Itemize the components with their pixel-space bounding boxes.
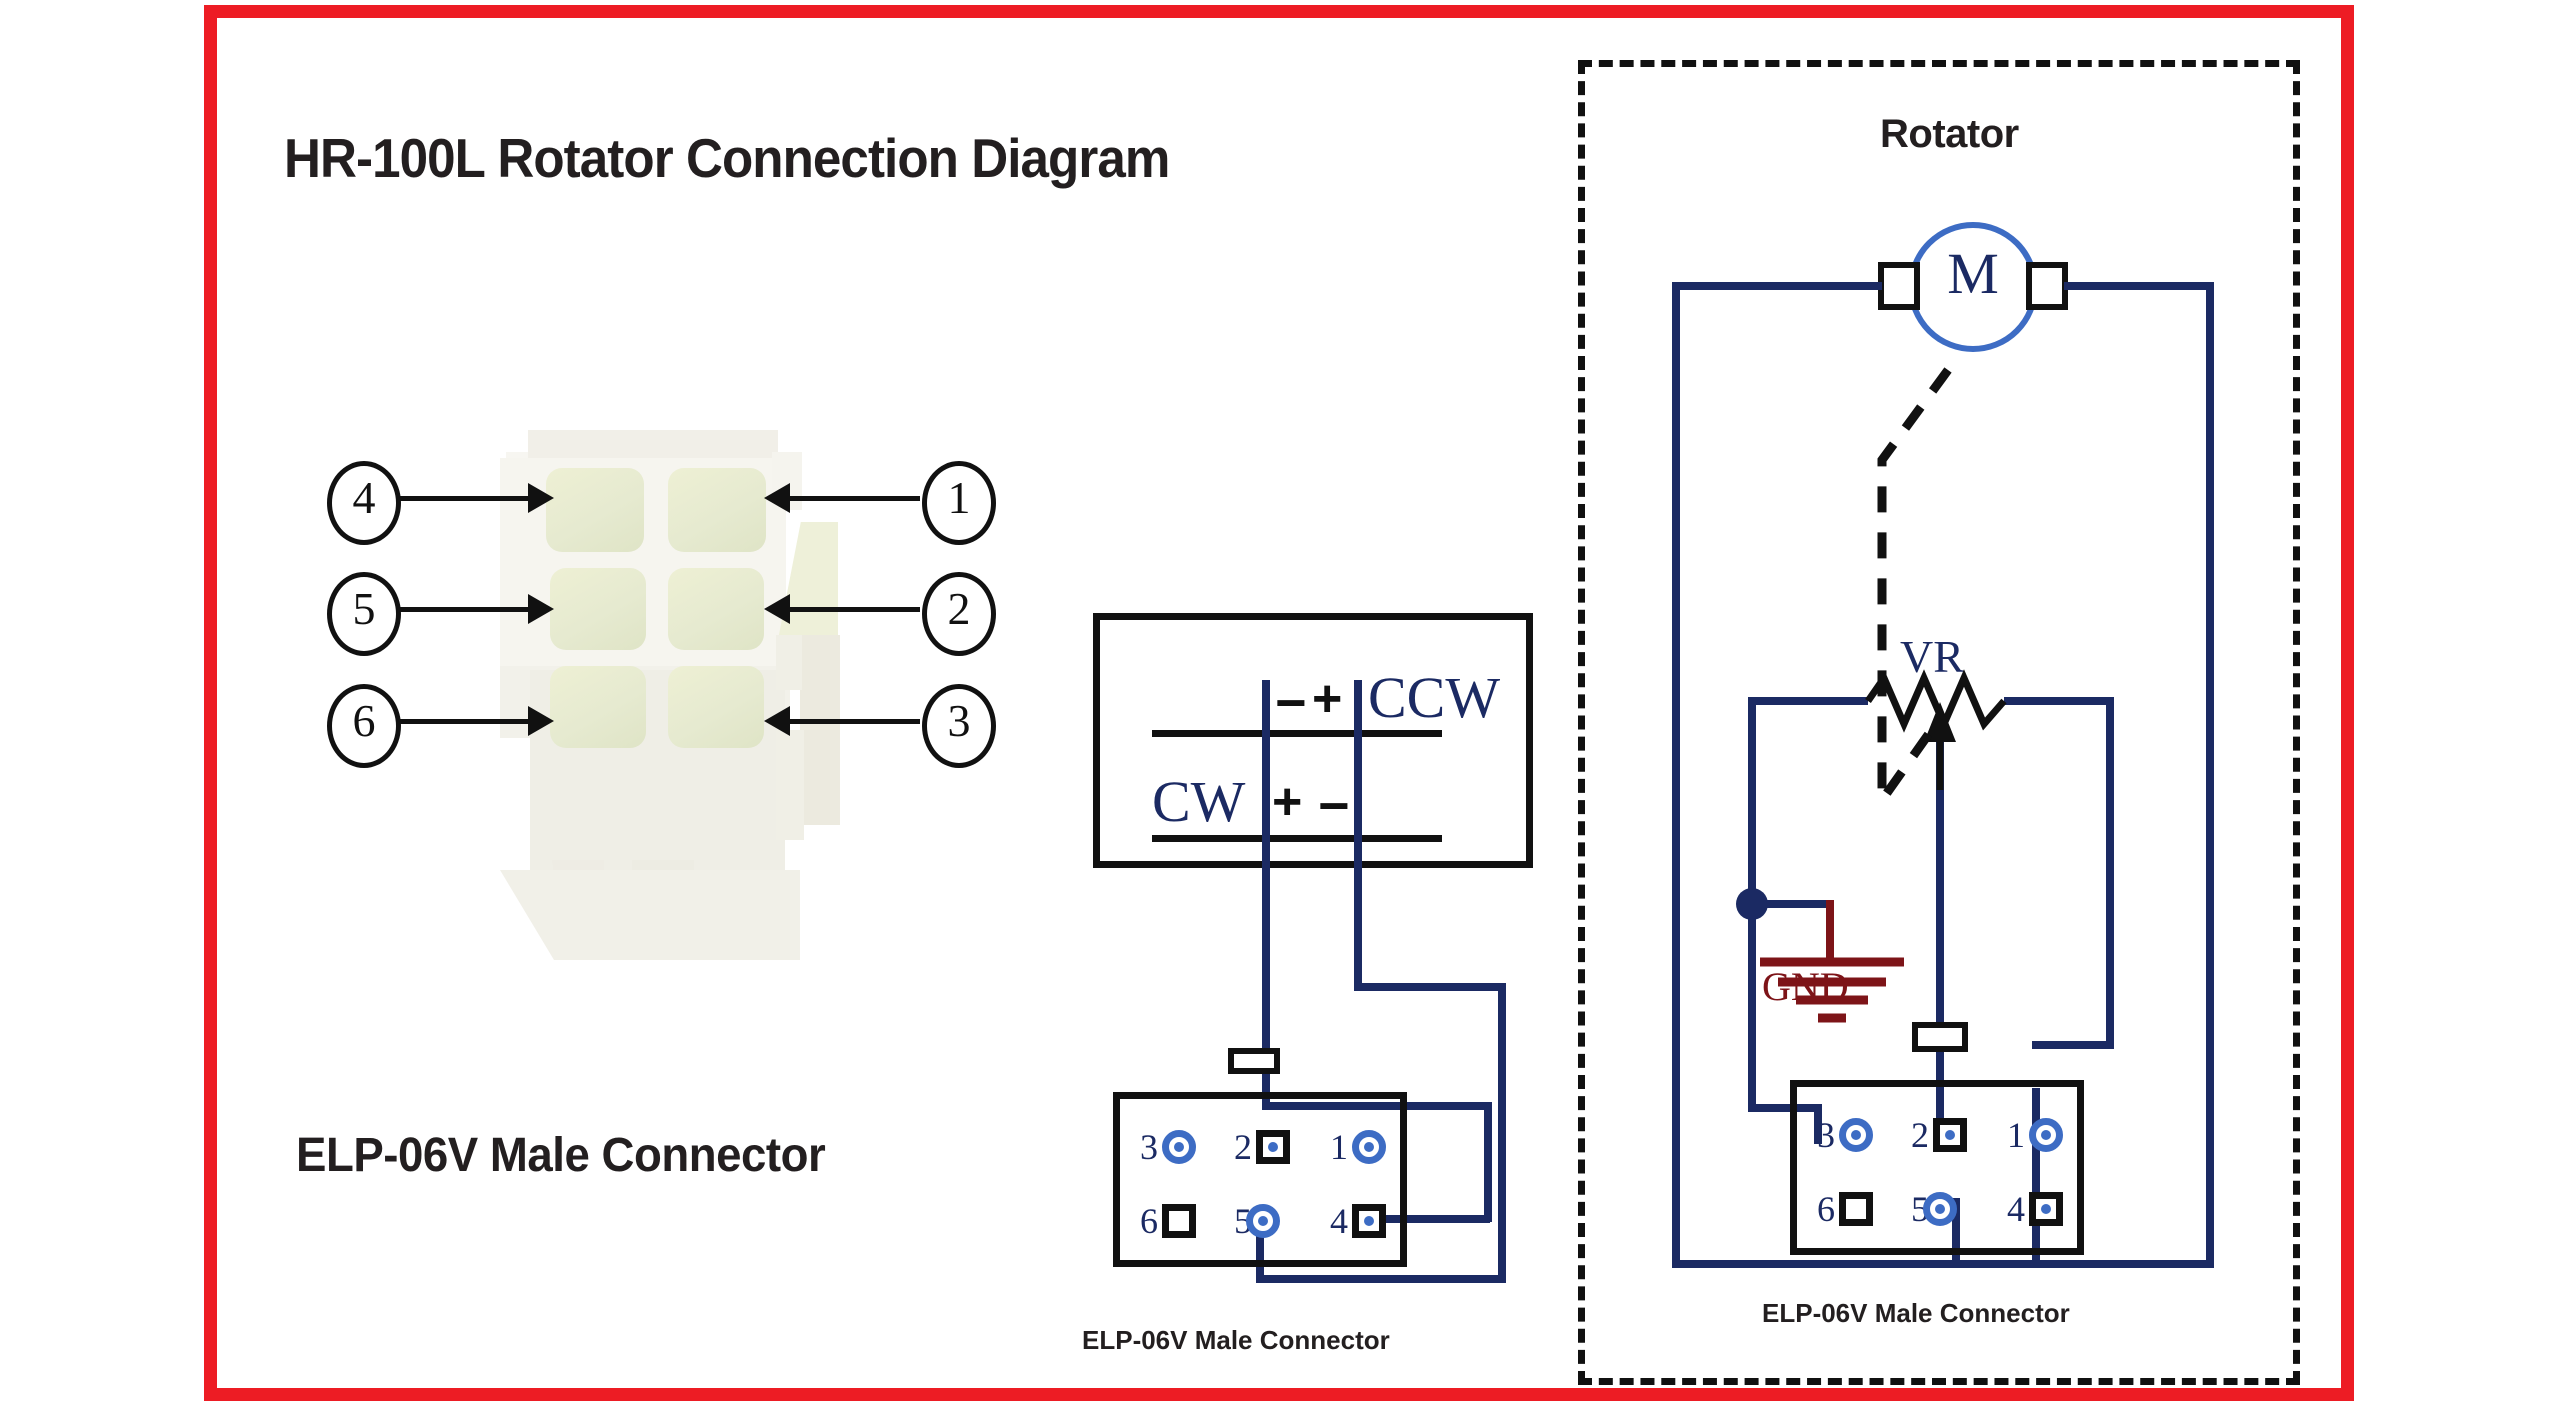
polarity-cw-minus: − [1318, 775, 1350, 837]
middle-connector-caption: ELP-06V Male Connector [1082, 1325, 1390, 1356]
wire-vr-right-v [2106, 697, 2114, 1049]
rotator-pin-4 [2029, 1192, 2063, 1226]
wire-motor-right-bottom [1952, 1260, 2214, 1268]
rotator-pin-label-6: 6 [1805, 1192, 1835, 1226]
middle-pin-4 [1352, 1204, 1386, 1238]
photo-arrowhead-6 [528, 706, 554, 736]
rotator-pin-6 [1839, 1192, 1873, 1226]
connector-photo [500, 430, 920, 1120]
wire-vr-wiper-down [1936, 730, 1944, 1140]
middle-pin-label-3: 3 [1128, 1130, 1158, 1164]
wire-cw-vertical [1354, 680, 1362, 990]
wire-motor-left-v [1672, 282, 1680, 1268]
photo-pin-4: 4 [327, 461, 401, 545]
photo-arrow-2 [790, 607, 920, 612]
photo-pin-2: 2 [922, 572, 996, 656]
rotator-title: Rotator [1880, 112, 2019, 157]
middle-pin-5 [1246, 1204, 1280, 1238]
rotator-connector-keying-notch [1912, 1022, 1968, 1052]
polarity-ccw-label: CCW [1368, 664, 1500, 731]
wire-cw-horizontal-upper [1354, 983, 1506, 991]
middle-pin-6 [1162, 1204, 1196, 1238]
rotator-pin-1 [2029, 1118, 2063, 1152]
motor-terminal-right [2026, 262, 2068, 310]
wire-vr-right-to-pin1 [2032, 1041, 2114, 1049]
photo-arrow-3 [790, 719, 920, 724]
wire-cw-vertical-right [1498, 983, 1506, 1283]
photo-pin-6: 6 [327, 684, 401, 768]
photo-arrowhead-5 [528, 594, 554, 624]
middle-pin-2 [1256, 1130, 1290, 1164]
diagram-canvas: HR-100L Rotator Connection Diagram 4 5 6… [0, 0, 2560, 1411]
middle-pin-label-6: 6 [1128, 1204, 1158, 1238]
wire-vr-right-h [2004, 697, 2114, 705]
rotator-pin-label-4: 4 [1995, 1192, 2025, 1226]
photo-arrow-5 [400, 607, 532, 612]
rotator-pin-label-3: 3 [1805, 1118, 1835, 1152]
wire-motor-right-h [2064, 282, 2214, 290]
wire-to-gnd-symbol [1752, 900, 1832, 908]
photo-pin-3: 3 [922, 684, 996, 768]
rotator-pin-label-2: 2 [1899, 1118, 1929, 1152]
vr-label: VR [1900, 630, 1964, 683]
wire-cw-horizontal-lower [1256, 1275, 1506, 1283]
wire-gnd-node-down [1748, 900, 1756, 1112]
wire-ccw-vertical [1262, 680, 1270, 1110]
photo-arrowhead-4 [528, 483, 554, 513]
middle-connector-keying-notch [1228, 1048, 1280, 1074]
polarity-ccw-minus: − [1275, 672, 1307, 734]
photo-arrow-6 [400, 719, 532, 724]
photo-arrowhead-1 [764, 483, 790, 513]
gnd-stem [1826, 900, 1834, 960]
wire-vr-left-h [1748, 697, 1868, 705]
middle-pin-label-1: 1 [1318, 1130, 1348, 1164]
wire-ccw-down-right [1484, 1102, 1492, 1222]
page-title: HR-100L Rotator Connection Diagram [284, 126, 1169, 190]
rotator-connector-caption: ELP-06V Male Connector [1762, 1298, 2070, 1329]
photo-arrow-4 [400, 496, 532, 501]
photo-pin-1: 1 [922, 461, 996, 545]
photo-caption: ELP-06V Male Connector [296, 1128, 825, 1183]
polarity-cw-label: CW [1152, 768, 1245, 835]
middle-pin-1 [1352, 1130, 1386, 1164]
rotator-pin-2 [1933, 1118, 1967, 1152]
photo-arrowhead-3 [764, 706, 790, 736]
middle-pin-3 [1162, 1130, 1196, 1164]
rotator-pin-5 [1923, 1192, 1957, 1226]
photo-arrowhead-2 [764, 594, 790, 624]
motor-terminal-left [1878, 262, 1920, 310]
gnd-label: GND [1762, 963, 1849, 1010]
photo-pin-5: 5 [327, 572, 401, 656]
photo-arrow-1 [790, 496, 920, 501]
rotator-pin-3 [1839, 1118, 1873, 1152]
polarity-cw-plus: + [1272, 772, 1302, 832]
wire-motor-right-v [2206, 282, 2214, 1268]
middle-pin-label-2: 2 [1222, 1130, 1252, 1164]
wire-motor-left-h [1672, 282, 1882, 290]
rotator-pin-label-1: 1 [1995, 1118, 2025, 1152]
polarity-line-cw [1152, 835, 1442, 842]
polarity-ccw-plus: + [1312, 669, 1342, 729]
motor-label: M [1908, 240, 2038, 307]
middle-pin-label-4: 4 [1318, 1204, 1348, 1238]
